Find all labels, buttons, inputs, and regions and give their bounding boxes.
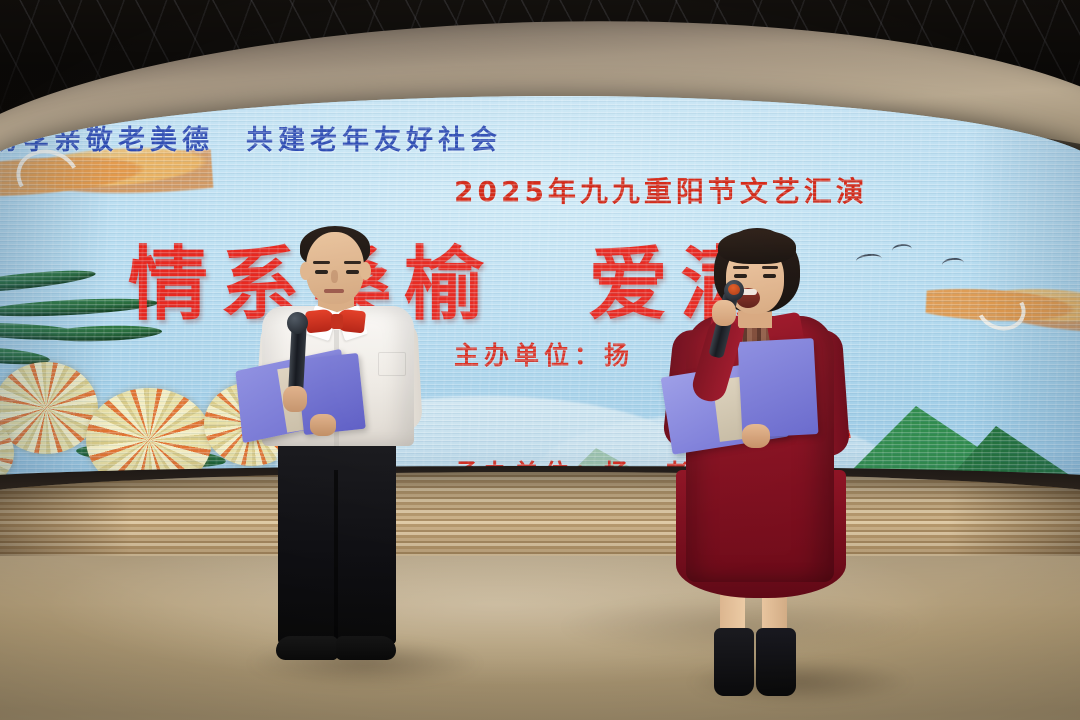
male-host-ear-right: [360, 262, 371, 280]
male-host-bowtie-knot: [331, 314, 343, 329]
female-host-eyebrow-right: [762, 266, 778, 269]
male-host-shirt-pocket: [378, 352, 406, 376]
male-host-face: [306, 232, 364, 304]
male-host-shoe-right: [336, 636, 396, 660]
female-host-boot-right: [756, 628, 796, 696]
male-host-hand-holding-folder: [310, 414, 336, 436]
floor-reflection-sheen: [0, 556, 1080, 720]
stage-photo: 弘扬孝亲敬老美德 共建老年友好社会 2025年九九重阳节文艺汇演 情系桑榆 爱满…: [0, 0, 1080, 720]
male-host-eyebrow-right: [344, 261, 361, 264]
female-host-eye-left: [734, 274, 747, 278]
male-host-leg-gap: [334, 470, 338, 644]
male-host-eye-left: [315, 270, 328, 274]
led-vignette: [0, 96, 1080, 526]
male-host-eye-right: [346, 270, 359, 274]
male-host-ear-left: [300, 262, 311, 280]
female-host-eyebrow-left: [733, 266, 749, 269]
female-host-eye-right: [763, 274, 776, 278]
female-host-hand-holding-folder: [742, 424, 770, 448]
female-host-folder-front: [738, 338, 819, 438]
male-host-shoe-left: [276, 636, 338, 660]
male-host-hand-holding-microphone: [283, 386, 307, 412]
led-backdrop-screen: 弘扬孝亲敬老美德 共建老年友好社会 2025年九九重阳节文艺汇演 情系桑榆 爱满…: [0, 96, 1080, 526]
stage-floor: [0, 556, 1080, 720]
male-host-eyebrow-left: [313, 261, 330, 264]
male-host-mouth: [324, 289, 344, 293]
female-host-hair-fringe: [718, 230, 796, 264]
male-host-nose: [331, 270, 338, 283]
female-host-boot-left: [714, 628, 754, 696]
female-host-hand-holding-microphone: [712, 300, 736, 326]
